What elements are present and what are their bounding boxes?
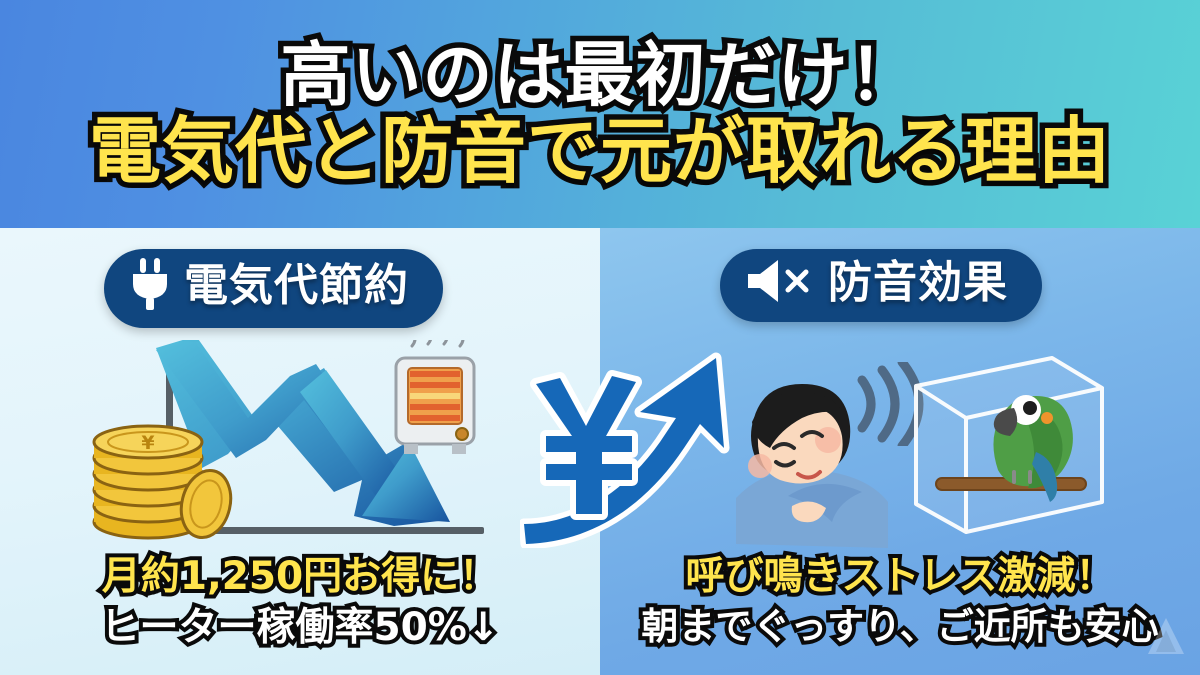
yen-coin-stack-icon: ¥ [86,418,246,548]
caption-left-secondary: ヒーター稼働率50%↓ [0,607,600,648]
title-line-2: 電気代と防音で元が取れる理由 [89,115,1111,188]
badge-label-soundproof: 防音効果 [828,260,1008,306]
title-block: 高いのは最初だけ！ 電気代と防音で元が取れる理由 [0,0,1200,228]
caption-right-secondary: 朝までぐっすり、ご近所も安心 [600,607,1200,646]
caption-right-primary: 呼び鳴きストレス激減！ [600,556,1200,597]
header-banner: 高いのは最初だけ！ 電気代と防音で元が取れる理由 [0,0,1200,228]
badge-electricity-savings[interactable]: 電気代節約 [104,249,443,328]
channel-logo-watermark [1138,610,1194,671]
badge-soundproofing[interactable]: 防音効果 [720,249,1042,322]
acrylic-soundproof-cage-icon [902,348,1114,549]
speaker-muted-icon [746,258,814,309]
electric-heater-icon [380,340,488,475]
yen-rising-arrow-icon [520,348,740,553]
title-line-1: 高いのは最初だけ！ [281,40,920,111]
power-plug-icon [130,258,170,315]
caption-left-primary: 月約1,250円お得に！ [0,556,600,597]
badge-label-electricity: 電気代節約 [184,263,409,309]
svg-text:¥: ¥ [141,432,154,454]
infographic-canvas: 高いのは最初だけ！ 電気代と防音で元が取れる理由 [0,0,1200,675]
